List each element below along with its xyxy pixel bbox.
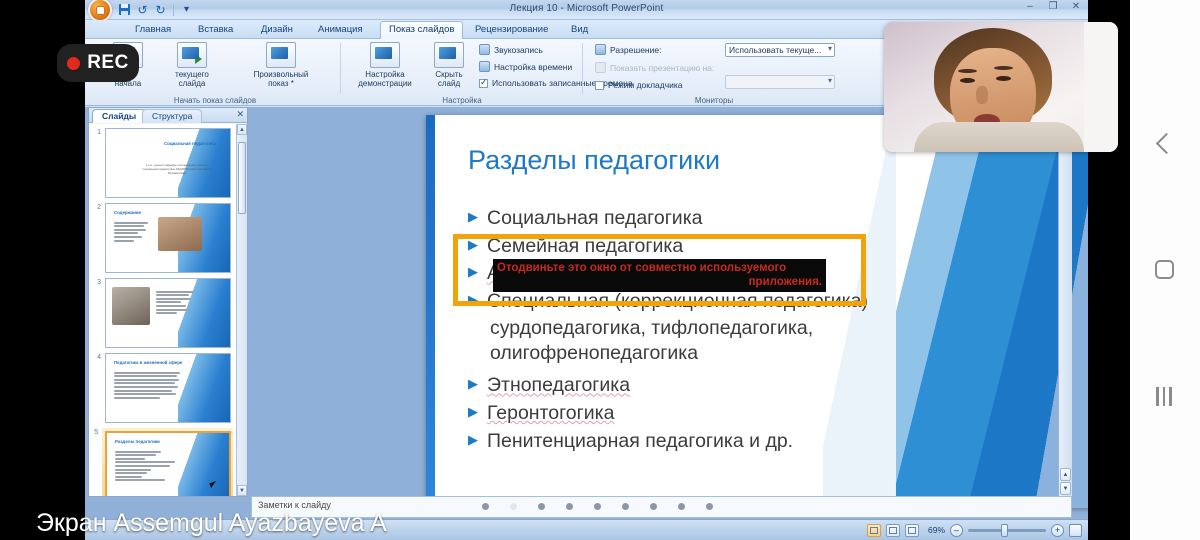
thumb-title: Педагогика в жизненной сфере bbox=[114, 360, 182, 365]
bullet-item: ▶ Геронтогогика bbox=[468, 400, 1078, 428]
rec-label: REC bbox=[87, 52, 129, 74]
home-icon[interactable] bbox=[1144, 250, 1184, 290]
group-label-start-show: Начать показ слайдов bbox=[89, 96, 341, 105]
bullet-marker-icon: ▶ bbox=[468, 372, 478, 397]
checkbox-icon bbox=[479, 79, 488, 88]
microphone-icon bbox=[479, 44, 490, 55]
previous-slide-button[interactable]: ▲ bbox=[1060, 468, 1071, 481]
ribbon-group-setup: Настройка демонстрации Скрыть слайд Звук… bbox=[341, 39, 583, 106]
slide-number: 3 bbox=[91, 279, 101, 286]
zoom-in-button[interactable]: + bbox=[1051, 524, 1064, 537]
custom-show-button[interactable]: Произвольный показ * bbox=[239, 42, 323, 88]
slide-stage: Разделы педагогики ▶ Социальная педагоги… bbox=[251, 107, 1072, 497]
record-narration-button[interactable]: Звукозапись bbox=[479, 44, 543, 55]
thumbnail-slide-3[interactable]: 3 bbox=[105, 278, 233, 348]
tab-design[interactable]: Дизайн bbox=[253, 22, 301, 39]
bullet-item: ▶ Пенитенциарная педагогика и др. bbox=[468, 428, 1078, 456]
back-icon[interactable] bbox=[1144, 123, 1184, 163]
webcam-eye-right bbox=[996, 76, 1011, 81]
bullet-item: ▶ Социальная педагогика bbox=[468, 205, 1078, 233]
android-navigation-bar bbox=[1128, 0, 1200, 540]
dot bbox=[650, 503, 657, 510]
slide-number: 2 bbox=[91, 204, 101, 211]
tab-view[interactable]: Вид bbox=[563, 22, 596, 39]
recording-indicator[interactable]: REC bbox=[57, 44, 139, 82]
thumb-title: Содержание bbox=[114, 210, 141, 215]
bullet-text: Социальная педагогика bbox=[487, 205, 703, 233]
thumb-title: Социальная педагогика bbox=[146, 141, 216, 146]
thumbnail-slide-5[interactable]: 5 Разделы педагогики bbox=[102, 428, 233, 496]
window-controls: – ❐ ✕ bbox=[1022, 1, 1084, 12]
dot bbox=[538, 503, 545, 510]
rehearse-timings-button[interactable]: Настройка времени bbox=[479, 61, 572, 72]
slide-number: 5 bbox=[89, 429, 98, 436]
group-label-monitors: Мониторы bbox=[585, 96, 843, 105]
zoom-level[interactable]: 69% bbox=[928, 525, 945, 535]
progress-dots bbox=[482, 503, 713, 510]
slide-thumbnail: Педагогика в жизненной сфере bbox=[105, 353, 231, 423]
slides-pane-scrollbar[interactable]: ▲ ▼ bbox=[236, 124, 247, 496]
phone-screen: ↺ ↻ ▾ Лекция 10 - Microsoft PowerPoint –… bbox=[0, 0, 1200, 540]
zoom-out-button[interactable]: – bbox=[950, 524, 963, 537]
bullet-item: ▶ Этнопедагогика bbox=[468, 372, 1078, 400]
close-pane-icon[interactable]: ✕ bbox=[236, 109, 244, 120]
scroll-down-arrow-icon[interactable]: ▼ bbox=[237, 485, 247, 496]
slide-number: 1 bbox=[91, 129, 101, 136]
fit-to-window-button[interactable] bbox=[1069, 524, 1082, 537]
display-icon bbox=[595, 62, 606, 73]
webcam-nose bbox=[976, 86, 988, 104]
thumbnail-list[interactable]: 1 Социальная педагогика к.п.н., доцент к… bbox=[89, 124, 236, 496]
tab-insert[interactable]: Вставка bbox=[190, 22, 241, 39]
dot bbox=[482, 503, 489, 510]
slides-pane: Слайды Структура ✕ 1 Социальная педагоги… bbox=[88, 107, 248, 497]
slide-thumbnail: Содержание bbox=[105, 203, 231, 273]
screen-share-warning-toast: Отодвиньте это окно от совместно использ… bbox=[493, 259, 826, 292]
dot bbox=[622, 503, 629, 510]
setup-show-icon bbox=[370, 42, 400, 68]
tab-animation[interactable]: Анимация bbox=[310, 22, 371, 39]
dot bbox=[566, 503, 573, 510]
tab-slideshow[interactable]: Показ слайдов bbox=[380, 21, 463, 39]
presenter-webcam[interactable] bbox=[884, 22, 1118, 152]
webcam-brow-left bbox=[958, 69, 977, 73]
thumbnail-slide-1[interactable]: 1 Социальная педагогика к.п.н., доцент к… bbox=[105, 128, 233, 198]
dot bbox=[678, 503, 685, 510]
slide-title: Разделы педагогики bbox=[468, 145, 720, 176]
bullet-marker-icon: ▶ bbox=[468, 205, 478, 230]
slideshow-view-button[interactable] bbox=[905, 524, 919, 537]
presenter-view-checkbox[interactable]: Режим докладчика bbox=[595, 80, 683, 90]
screen-share-label: Экран Assemgul Ayazbayeva A bbox=[36, 509, 387, 538]
restore-button[interactable]: ❐ bbox=[1045, 1, 1061, 12]
thumb-title: Разделы педагогики bbox=[115, 439, 160, 444]
scrollbar-thumb[interactable] bbox=[238, 142, 246, 214]
tab-home[interactable]: Главная bbox=[127, 22, 179, 39]
bullet-text: Геронтогогика bbox=[487, 400, 614, 428]
webcam-background bbox=[1084, 22, 1118, 152]
resolution-dropdown[interactable]: Использовать текуще... bbox=[725, 43, 835, 57]
dot bbox=[594, 503, 601, 510]
slide-thumbnail bbox=[105, 278, 231, 348]
slide-sorter-view-button[interactable] bbox=[886, 524, 900, 537]
window-title: Лекция 10 - Microsoft PowerPoint bbox=[85, 3, 1088, 14]
slides-pane-tabs: Слайды Структура ✕ bbox=[89, 108, 247, 123]
start-current-icon bbox=[177, 42, 207, 68]
bullet-marker-icon: ▶ bbox=[468, 400, 478, 425]
clock-icon bbox=[479, 61, 490, 72]
tab-slides[interactable]: Слайды bbox=[92, 109, 146, 123]
group-divider bbox=[582, 43, 583, 94]
next-slide-button[interactable]: ▼ bbox=[1060, 482, 1071, 495]
slide-left-accent bbox=[426, 115, 435, 508]
ribbon-group-monitors: Разрешение: Использовать текуще... Показ… bbox=[585, 39, 843, 106]
custom-show-icon bbox=[266, 42, 296, 68]
close-button[interactable]: ✕ bbox=[1068, 1, 1084, 12]
warning-line-2: приложения. bbox=[497, 275, 822, 289]
zoom-slider[interactable] bbox=[968, 529, 1046, 532]
record-dot-icon bbox=[67, 57, 80, 70]
resolution-label-row: Разрешение: bbox=[595, 44, 661, 55]
bullet-marker-icon: ▶ bbox=[468, 428, 478, 453]
webcam-eye-left bbox=[960, 78, 975, 83]
work-area: Слайды Структура ✕ 1 Социальная педагоги… bbox=[85, 107, 1088, 540]
title-bar: ↺ ↻ ▾ Лекция 10 - Microsoft PowerPoint –… bbox=[85, 0, 1088, 20]
bullet-text: Пенитенциарная педагогика и др. bbox=[487, 428, 793, 456]
show-presentation-on-label-row: Показать презентацию на: bbox=[595, 62, 714, 73]
status-right-controls: 69% – + bbox=[867, 524, 1088, 537]
tab-outline[interactable]: Структура bbox=[142, 109, 202, 123]
webcam-brow-right bbox=[994, 66, 1013, 70]
sub-line: олигофренопедагогика bbox=[490, 341, 1078, 366]
setup-show-button[interactable]: Настройка демонстрации bbox=[347, 42, 423, 88]
slide-decoration bbox=[178, 354, 230, 422]
warning-line-1: Отодвиньте это окно от совместно использ… bbox=[497, 262, 786, 274]
slide-thumbnail: Разделы педагогики bbox=[105, 431, 231, 496]
slide-thumbnail: Социальная педагогика к.п.н., доцент каф… bbox=[105, 128, 231, 198]
minimize-button[interactable]: – bbox=[1022, 1, 1038, 12]
recents-icon[interactable] bbox=[1144, 377, 1184, 417]
normal-view-button[interactable] bbox=[867, 524, 881, 537]
hide-slide-button[interactable]: Скрыть слайд bbox=[425, 42, 473, 88]
dot bbox=[706, 503, 713, 510]
bullet-text: Этнопедагогика bbox=[487, 372, 630, 400]
slide-number: 4 bbox=[91, 354, 101, 361]
thumbnail-slide-4[interactable]: 4 Педагогика в жизненной сфере bbox=[105, 353, 233, 423]
sub-line: сурдопедагогика, тифлопедагогика, bbox=[490, 316, 1078, 341]
checkbox-icon bbox=[595, 81, 604, 90]
current-slide[interactable]: Разделы педагогики ▶ Социальная педагоги… bbox=[426, 115, 1088, 508]
thumbnail-slide-2[interactable]: 2 Содержание bbox=[105, 203, 233, 273]
slide-scrollbar[interactable]: ▲ ▼ bbox=[1058, 107, 1072, 497]
slide-decoration bbox=[178, 433, 229, 496]
start-from-current-button[interactable]: текущего слайда bbox=[161, 42, 223, 88]
tab-review[interactable]: Рецензирование bbox=[467, 22, 556, 39]
webcam-shoulders bbox=[914, 122, 1084, 152]
show-presentation-on-dropdown bbox=[725, 75, 835, 89]
monitor-icon bbox=[595, 44, 606, 55]
zoom-slider-handle[interactable] bbox=[1001, 524, 1008, 537]
hide-slide-icon bbox=[434, 42, 464, 68]
dot bbox=[510, 503, 517, 510]
scroll-up-arrow-icon[interactable]: ▲ bbox=[237, 124, 247, 135]
group-label-setup: Настройка bbox=[341, 96, 583, 105]
